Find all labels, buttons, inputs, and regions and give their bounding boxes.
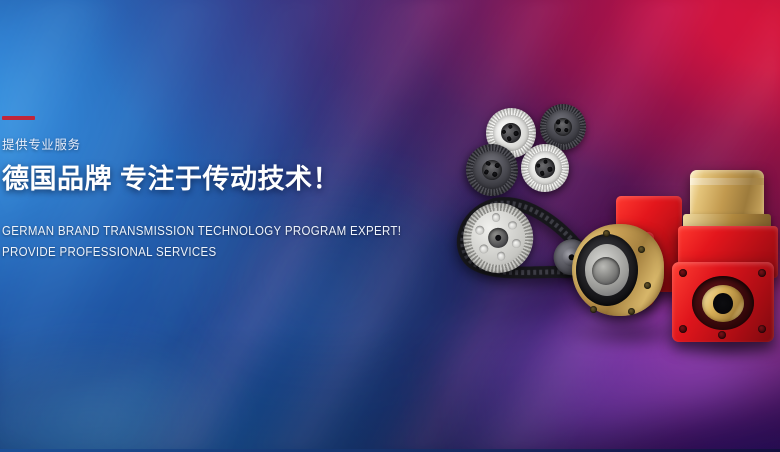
- banner-copy-block: 提供专业服务 德国品牌 专注于传动技术！ GERMAN BRAND TRANSM…: [2, 116, 422, 263]
- accent-bar: [2, 116, 35, 120]
- banner-subcopy: GERMAN BRAND TRANSMISSION TECHNOLOGY PRO…: [2, 221, 422, 263]
- hero-banner: 提供专业服务 德国品牌 专注于传动技术！ GERMAN BRAND TRANSM…: [0, 0, 780, 452]
- banner-subline-2: PROVIDE PROFESSIONAL SERVICES: [2, 242, 388, 263]
- banner-kicker: 提供专业服务: [2, 134, 422, 153]
- banner-subline-1: GERMAN BRAND TRANSMISSION TECHNOLOGY PRO…: [2, 221, 388, 242]
- banner-headline: 德国品牌 专注于传动技术！: [2, 165, 422, 194]
